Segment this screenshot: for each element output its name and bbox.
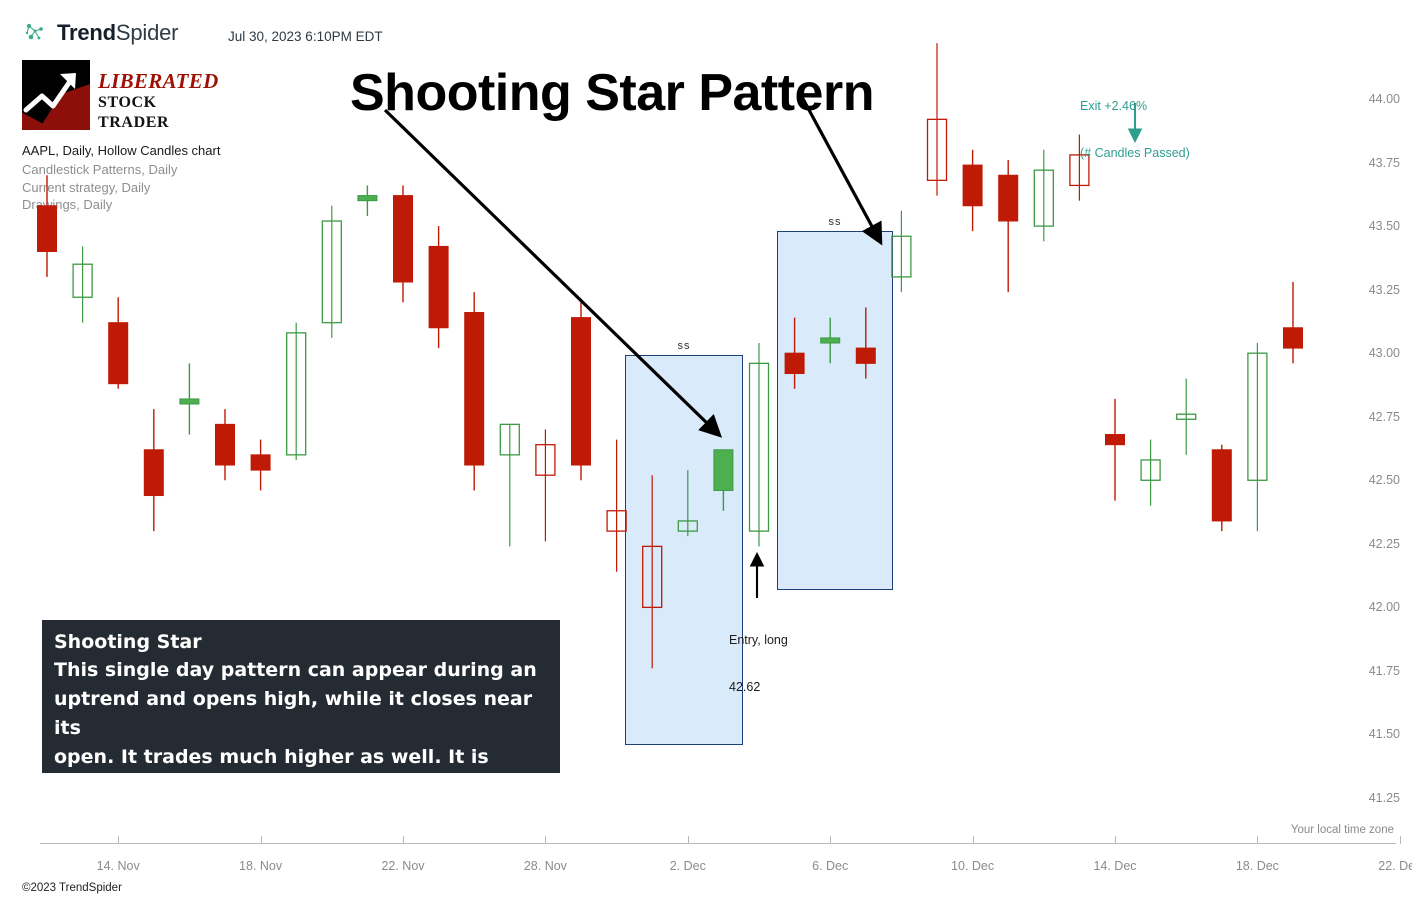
x-axis-line bbox=[40, 843, 1396, 844]
arrow-to-pattern-2 bbox=[802, 97, 875, 232]
description-line-2: uptrend and opens high, while it closes … bbox=[54, 685, 548, 743]
y-axis-tick-5: 42.75 bbox=[1369, 410, 1400, 424]
x-axis-tick-0: 14. Nov bbox=[97, 859, 140, 873]
x-axis-tickmark-6 bbox=[973, 836, 974, 844]
timezone-note: Your local time zone bbox=[1291, 824, 1394, 836]
x-axis-tickmark-7 bbox=[1115, 836, 1116, 844]
y-axis-tick-1: 43.75 bbox=[1369, 156, 1400, 170]
exit-annotation: Exit +2.46% (# Candles Passed) bbox=[1080, 68, 1190, 177]
x-axis-tick-8: 18. Dec bbox=[1236, 859, 1279, 873]
description-line-4: nature, but looks like an Inverted Hamme… bbox=[54, 801, 548, 830]
y-axis-tick-6: 42.50 bbox=[1369, 473, 1400, 487]
y-axis-tick-4: 43.00 bbox=[1369, 346, 1400, 360]
x-axis-tickmark-3 bbox=[545, 836, 546, 844]
y-axis-tick-8: 42.00 bbox=[1369, 600, 1400, 614]
entry-price: 42.62 bbox=[729, 680, 788, 696]
x-axis-tick-9: 22. Dec bbox=[1378, 859, 1412, 873]
entry-label: Entry, long bbox=[729, 633, 788, 649]
arrow-to-pattern-1 bbox=[385, 110, 711, 427]
y-axis-tick-7: 42.25 bbox=[1369, 537, 1400, 551]
x-axis-tick-3: 28. Nov bbox=[524, 859, 567, 873]
x-axis-tickmark-5 bbox=[830, 836, 831, 844]
x-axis-tickmark-4 bbox=[688, 836, 689, 844]
x-axis-tick-5: 6. Dec bbox=[812, 859, 848, 873]
pattern-description-tooltip: Shooting Star This single day pattern ca… bbox=[42, 620, 560, 773]
description-heading: Shooting Star bbox=[54, 629, 548, 656]
y-axis-tick-3: 43.25 bbox=[1369, 283, 1400, 297]
x-axis-tick-2: 22. Nov bbox=[381, 859, 424, 873]
x-axis-tick-4: 2. Dec bbox=[670, 859, 706, 873]
description-line-1: This single day pattern can appear durin… bbox=[54, 656, 548, 685]
x-axis-tick-7: 14. Dec bbox=[1093, 859, 1136, 873]
x-axis-tick-1: 18. Nov bbox=[239, 859, 282, 873]
x-axis-tickmark-0 bbox=[118, 836, 119, 844]
x-axis-tick-6: 10. Dec bbox=[951, 859, 994, 873]
entry-annotation: Entry, long 42.62 bbox=[729, 602, 788, 711]
exit-sublabel: (# Candles Passed) bbox=[1080, 146, 1190, 162]
y-axis-tick-11: 41.25 bbox=[1369, 791, 1400, 805]
copyright-notice: ©2023 TrendSpider bbox=[22, 882, 122, 894]
exit-label: Exit +2.46% bbox=[1080, 99, 1190, 115]
y-axis-tick-9: 41.75 bbox=[1369, 664, 1400, 678]
y-axis-tick-2: 43.50 bbox=[1369, 219, 1400, 233]
y-axis-tick-10: 41.50 bbox=[1369, 727, 1400, 741]
description-line-3: open. It trades much higher as well. It … bbox=[54, 743, 548, 801]
y-axis-tick-0: 44.00 bbox=[1369, 92, 1400, 106]
x-axis-tickmark-2 bbox=[403, 836, 404, 844]
x-axis-tickmark-1 bbox=[261, 836, 262, 844]
x-axis-tickmark-8 bbox=[1257, 836, 1258, 844]
x-axis-tickmark-9 bbox=[1400, 836, 1401, 844]
